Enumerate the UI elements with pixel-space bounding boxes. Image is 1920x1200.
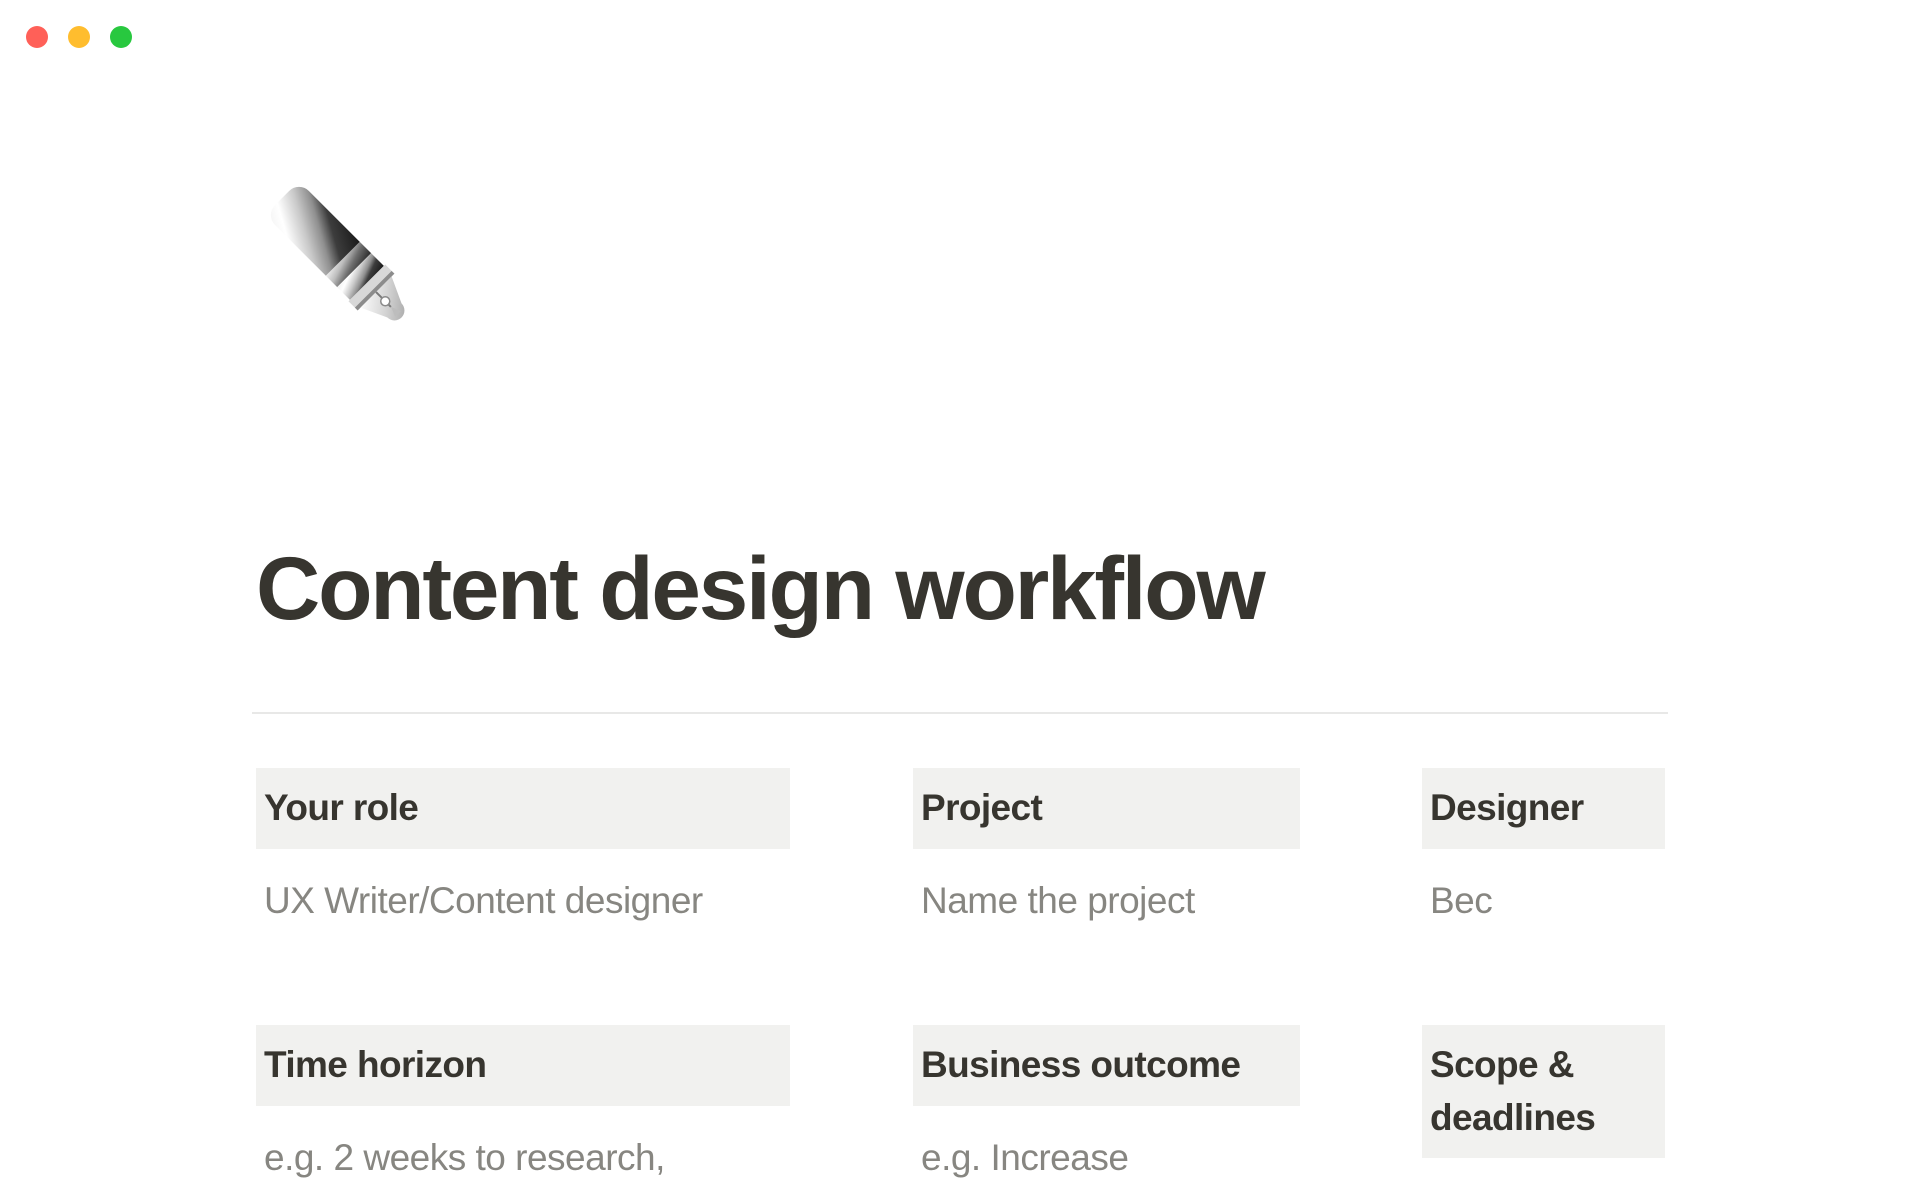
property-value-time-horizon[interactable]: e.g. 2 weeks to research,	[256, 1133, 790, 1183]
property-project: Project Name the project	[913, 768, 1300, 925]
fountain-pen-icon[interactable]	[252, 168, 428, 344]
property-value-designer[interactable]: Bec	[1422, 876, 1665, 926]
property-label-time-horizon: Time horizon	[256, 1025, 790, 1106]
property-label-your-role: Your role	[256, 768, 790, 849]
property-label-project: Project	[913, 768, 1300, 849]
property-label-business-outcome: Business outcome	[913, 1025, 1300, 1106]
document-page: Content design workflow Your role UX Wri…	[0, 0, 1920, 1200]
property-value-project[interactable]: Name the project	[913, 876, 1300, 926]
property-label-designer: Designer	[1422, 768, 1665, 849]
property-label-scope-deadlines: Scope & deadlines	[1422, 1025, 1665, 1158]
property-designer: Designer Bec	[1422, 768, 1665, 925]
property-time-horizon: Time horizon e.g. 2 weeks to research,	[256, 1025, 790, 1182]
property-your-role: Your role UX Writer/Content designer	[256, 768, 790, 925]
title-divider	[252, 712, 1668, 714]
property-value-your-role[interactable]: UX Writer/Content designer	[256, 876, 790, 926]
property-business-outcome: Business outcome e.g. Increase	[913, 1025, 1300, 1182]
page-title[interactable]: Content design workflow	[256, 540, 1264, 638]
property-value-business-outcome[interactable]: e.g. Increase	[913, 1133, 1300, 1183]
property-scope-deadlines: Scope & deadlines	[1422, 1025, 1665, 1185]
